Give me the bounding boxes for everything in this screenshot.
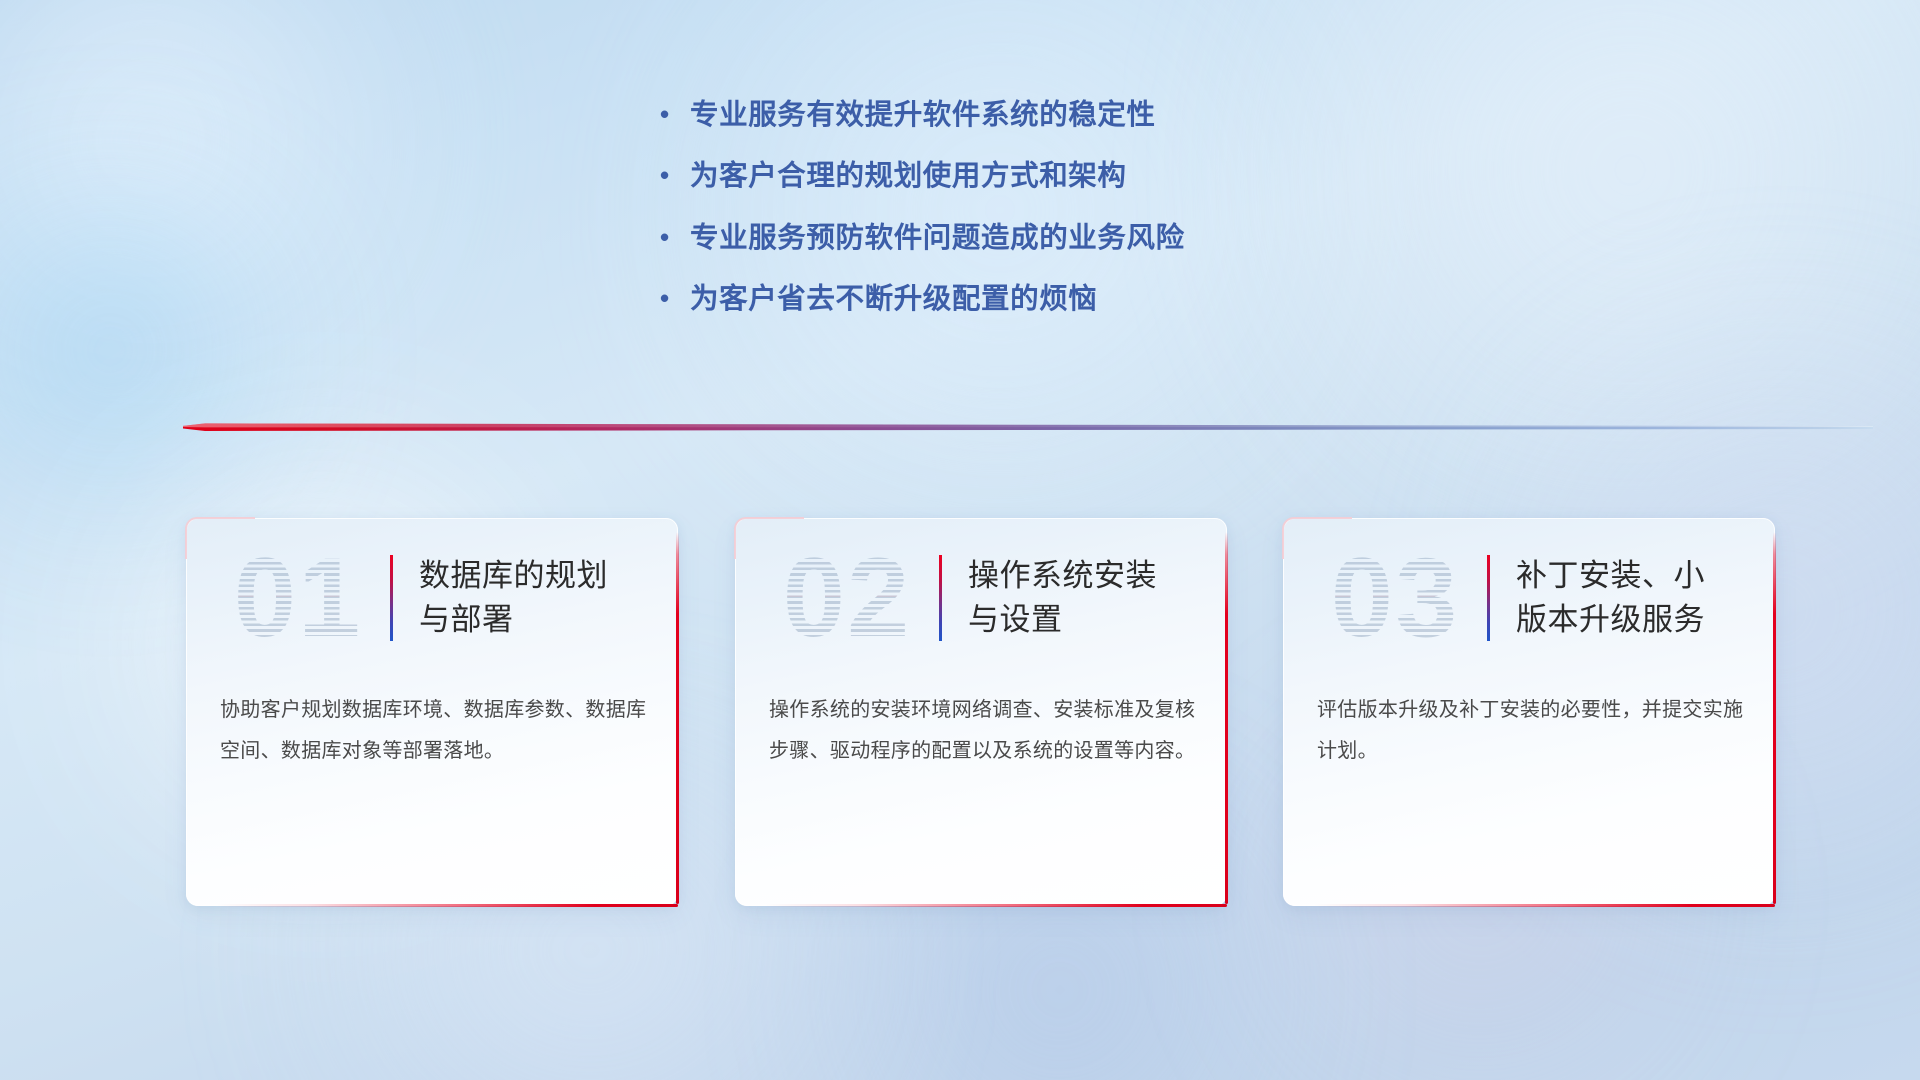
card-title-accent-bar: [939, 555, 942, 641]
bullet-text: 为客户合理的规划使用方式和架构: [690, 157, 1127, 195]
card-number-watermark: 01 01: [214, 534, 382, 662]
card-accent-bottom: [216, 904, 678, 907]
card-number-tint: 03: [1311, 534, 1479, 662]
bullet-dot-icon: •: [660, 96, 690, 134]
bullet-dot-icon: •: [660, 157, 690, 195]
card-title-line-2: 与设置: [968, 598, 1205, 642]
bullet-dot-icon: •: [660, 219, 690, 257]
card-title-line-1: 补丁安装、小: [1516, 554, 1753, 598]
bullet-text: 为客户省去不断升级配置的烦恼: [690, 280, 1097, 318]
card-number-watermark: 02 02: [763, 534, 931, 662]
card-accent-bottom: [1313, 904, 1775, 907]
card-body-text: 操作系统的安装环境网络调查、安装标准及复核步骤、驱动程序的配置以及系统的设置等内…: [769, 690, 1201, 772]
card-accent-right: [1225, 532, 1228, 904]
bullet-text: 专业服务有效提升软件系统的稳定性: [690, 96, 1156, 134]
list-item: • 为客户省去不断升级配置的烦恼: [660, 280, 1420, 318]
card-title: 补丁安装、小 版本升级服务: [1516, 554, 1753, 642]
card-title-accent-bar: [1487, 555, 1490, 641]
list-item: • 为客户合理的规划使用方式和架构: [660, 157, 1420, 195]
card-title-line-2: 版本升级服务: [1516, 598, 1753, 642]
service-card-02[interactable]: 02 02 操作系统安装 与设置 操作系统的安装环境网络调查、安装标准及复核步骤…: [735, 518, 1227, 906]
card-number-tint: 02: [763, 534, 931, 662]
bullet-text: 专业服务预防软件问题造成的业务风险: [690, 219, 1185, 257]
list-item: • 专业服务有效提升软件系统的稳定性: [660, 96, 1420, 134]
card-title-line-2: 与部署: [419, 598, 656, 642]
benefits-bullet-list: • 专业服务有效提升软件系统的稳定性 • 为客户合理的规划使用方式和架构 • 专…: [660, 96, 1420, 342]
service-card-03[interactable]: 03 03 补丁安装、小 版本升级服务 评估版本升级及补丁安装的必要性，并提交实…: [1283, 518, 1775, 906]
card-number-tint: 01: [214, 534, 382, 662]
list-item: • 专业服务预防软件问题造成的业务风险: [660, 219, 1420, 257]
card-body-text: 评估版本升级及补丁安装的必要性，并提交实施计划。: [1317, 690, 1749, 772]
card-header: 03 03 补丁安装、小 版本升级服务: [1283, 528, 1753, 668]
card-accent-right: [1773, 532, 1776, 904]
card-title-line-1: 操作系统安装: [968, 554, 1205, 598]
divider-highlight: [183, 418, 1873, 436]
section-divider: [183, 418, 1873, 436]
card-title: 操作系统安装 与设置: [968, 554, 1205, 642]
card-title-line-1: 数据库的规划: [419, 554, 656, 598]
service-card-row: 01 01 数据库的规划 与部署 协助客户规划数据库环境、数据库参数、数据库空间…: [0, 518, 1920, 918]
bullet-dot-icon: •: [660, 280, 690, 318]
service-card-01[interactable]: 01 01 数据库的规划 与部署 协助客户规划数据库环境、数据库参数、数据库空间…: [186, 518, 678, 906]
card-title: 数据库的规划 与部署: [419, 554, 656, 642]
card-header: 01 01 数据库的规划 与部署: [186, 528, 656, 668]
card-accent-right: [676, 532, 679, 904]
card-accent-bottom: [765, 904, 1227, 907]
card-number-watermark: 03 03: [1311, 534, 1479, 662]
card-title-accent-bar: [390, 555, 393, 641]
card-body-text: 协助客户规划数据库环境、数据库参数、数据库空间、数据库对象等部署落地。: [220, 690, 652, 772]
card-header: 02 02 操作系统安装 与设置: [735, 528, 1205, 668]
